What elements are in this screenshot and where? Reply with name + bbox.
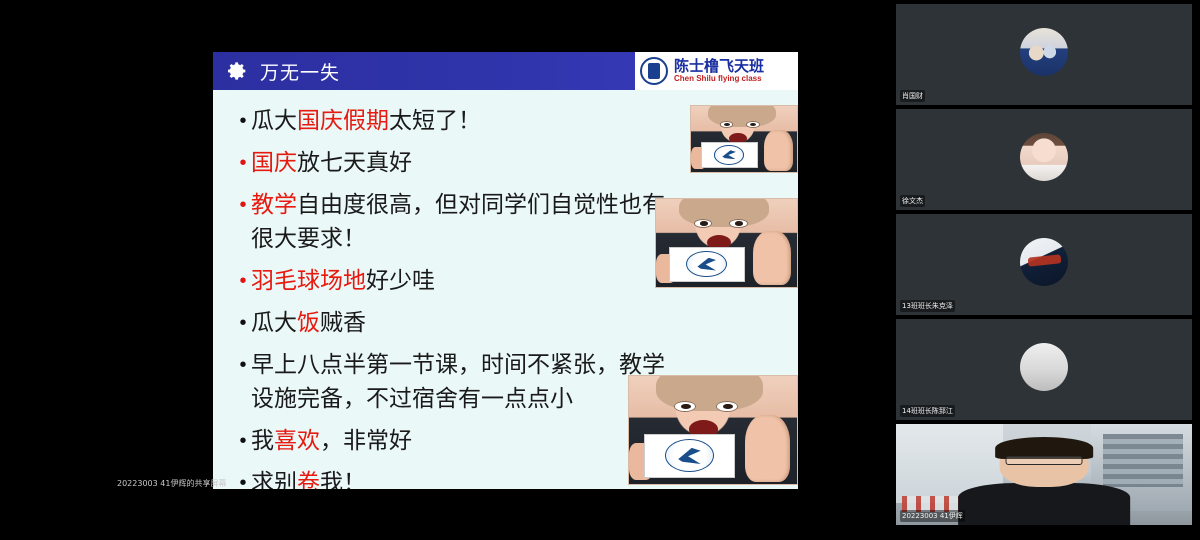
- bullet-dot-icon: •: [235, 466, 251, 489]
- slide-bullet-text: 羽毛球场地好少哇: [251, 264, 435, 298]
- participant-name-label: 20223003 41伊辉: [900, 510, 965, 522]
- university-crest-icon: [640, 57, 668, 85]
- avatar: [1020, 28, 1068, 76]
- slide-bullet-text: 瓜大饭贼香: [251, 306, 366, 340]
- brand-name-en: Chen Shilu flying class: [674, 75, 764, 83]
- participant-name-label: 13班班长朱克泽: [900, 300, 955, 312]
- avatar: [1020, 343, 1068, 391]
- slide-title: 万无一失: [260, 58, 340, 85]
- avatar: [1020, 133, 1068, 181]
- bullet-dot-icon: •: [235, 104, 251, 138]
- class-brand-badge: 陈士橹飞天班 Chen Shilu flying class: [635, 52, 798, 90]
- participant-name-label: 14班班长陈郅江: [900, 405, 955, 417]
- bullet-dot-icon: •: [235, 424, 251, 458]
- participant-filmstrip[interactable]: 肖国财徐文杰13班班长朱克泽14班班长陈郅江20223003 41伊辉: [888, 0, 1200, 540]
- meme-thumbnail-3: [628, 375, 798, 485]
- gear-icon: [226, 60, 248, 82]
- bullet-dot-icon: •: [235, 348, 251, 382]
- bullet-dot-icon: •: [235, 146, 251, 180]
- slide-bullet-text: 求别卷我！: [251, 466, 366, 489]
- participant-name-label: 肖国财: [900, 90, 925, 102]
- slide-header: 万无一失 陈士橹飞天班 Chen Shilu flying class: [213, 52, 798, 90]
- bullet-dot-icon: •: [235, 306, 251, 340]
- slide-bullet-item: •瓜大饭贼香: [235, 306, 798, 340]
- meme-thumbnail-2: [655, 198, 798, 288]
- meeting-screen: 万无一失 陈士橹飞天班 Chen Shilu flying class •瓜大国…: [0, 0, 1200, 540]
- participant-tile[interactable]: 20223003 41伊辉: [896, 424, 1192, 525]
- participant-tile[interactable]: 13班班长朱克泽: [896, 214, 1192, 315]
- avatar: [1020, 238, 1068, 286]
- participant-tile[interactable]: 14班班长陈郅江: [896, 319, 1192, 420]
- brand-name-cn: 陈士橹飞天班: [674, 59, 764, 75]
- participant-name-label: 徐文杰: [900, 195, 925, 207]
- slide-bullet-text: 国庆放七天真好: [251, 146, 412, 180]
- shared-screen-stage[interactable]: 万无一失 陈士橹飞天班 Chen Shilu flying class •瓜大国…: [0, 0, 888, 540]
- screen-share-label: 20223003 41伊辉的共享屏幕: [117, 478, 226, 489]
- participant-tile[interactable]: 徐文杰: [896, 109, 1192, 210]
- slide-bullet-text: 瓜大国庆假期太短了！: [251, 104, 481, 138]
- slide-bullet-text: 我喜欢，非常好: [251, 424, 412, 458]
- participant-tile[interactable]: 肖国财: [896, 4, 1192, 105]
- slide-bullet-text: 早上八点半第一节课，时间不紧张，教学 设施完备，不过宿舍有一点点小: [251, 348, 665, 416]
- bullet-dot-icon: •: [235, 264, 251, 298]
- slide-bullet-text: 教学自由度很高，但对同学们自觉性也有 很大要求！: [251, 188, 665, 256]
- meme-thumbnail-1: [690, 105, 798, 173]
- bullet-dot-icon: •: [235, 188, 251, 222]
